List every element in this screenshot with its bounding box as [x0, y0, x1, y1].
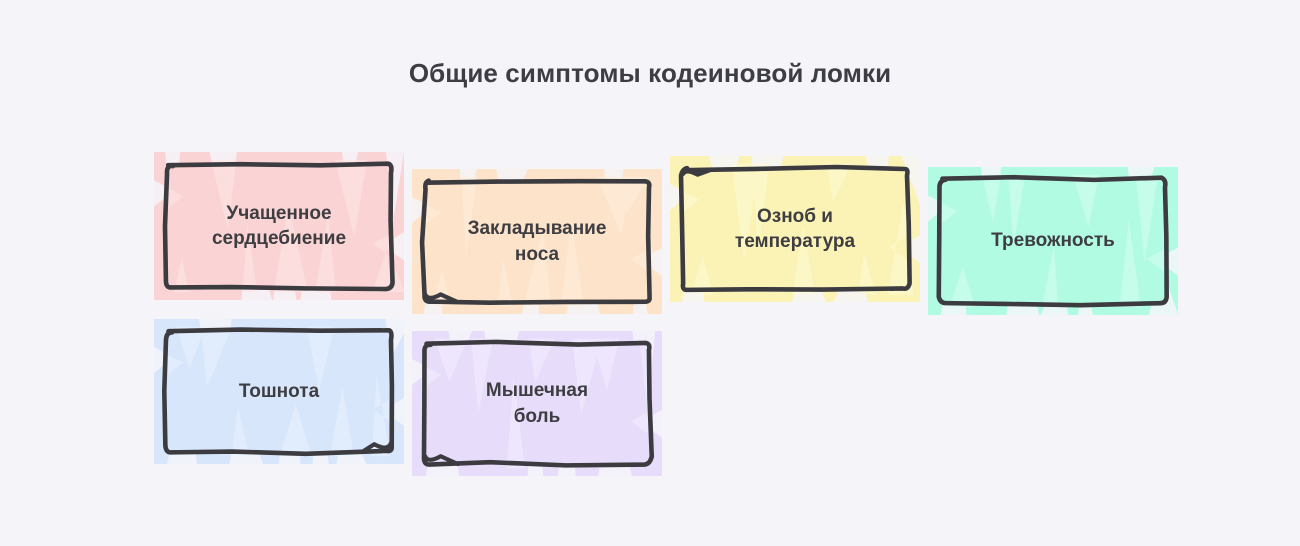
card-sketch-shape [407, 326, 667, 481]
card-sketch-shape [923, 162, 1183, 320]
symptom-card-zakladyvanie-nosa[interactable]: Закладывание носа [407, 164, 667, 319]
card-sketch-shape [149, 314, 409, 469]
card-inner-fill [682, 168, 908, 290]
card-sketch-shape [407, 164, 667, 319]
symptom-card-trevozhnost[interactable]: Тревожность [923, 162, 1183, 320]
symptom-card-uchashchennoe-serdcebienie[interactable]: Учащенное сердцебиение [149, 147, 409, 305]
symptom-card-oznob-i-temperatura[interactable]: Озноб и температура [665, 151, 925, 307]
card-sketch-shape [149, 147, 409, 305]
symptom-card-myshechnaya-bol[interactable]: Мышечная боль [407, 326, 667, 481]
card-inner-fill [166, 331, 392, 452]
symptom-card-toshnota[interactable]: Тошнота [149, 314, 409, 469]
symptoms-board: Общие симптомы кодеиновой ломки Учащенно… [0, 0, 1300, 546]
page-title: Общие симптомы кодеиновой ломки [0, 58, 1300, 89]
card-sketch-shape [665, 151, 925, 307]
